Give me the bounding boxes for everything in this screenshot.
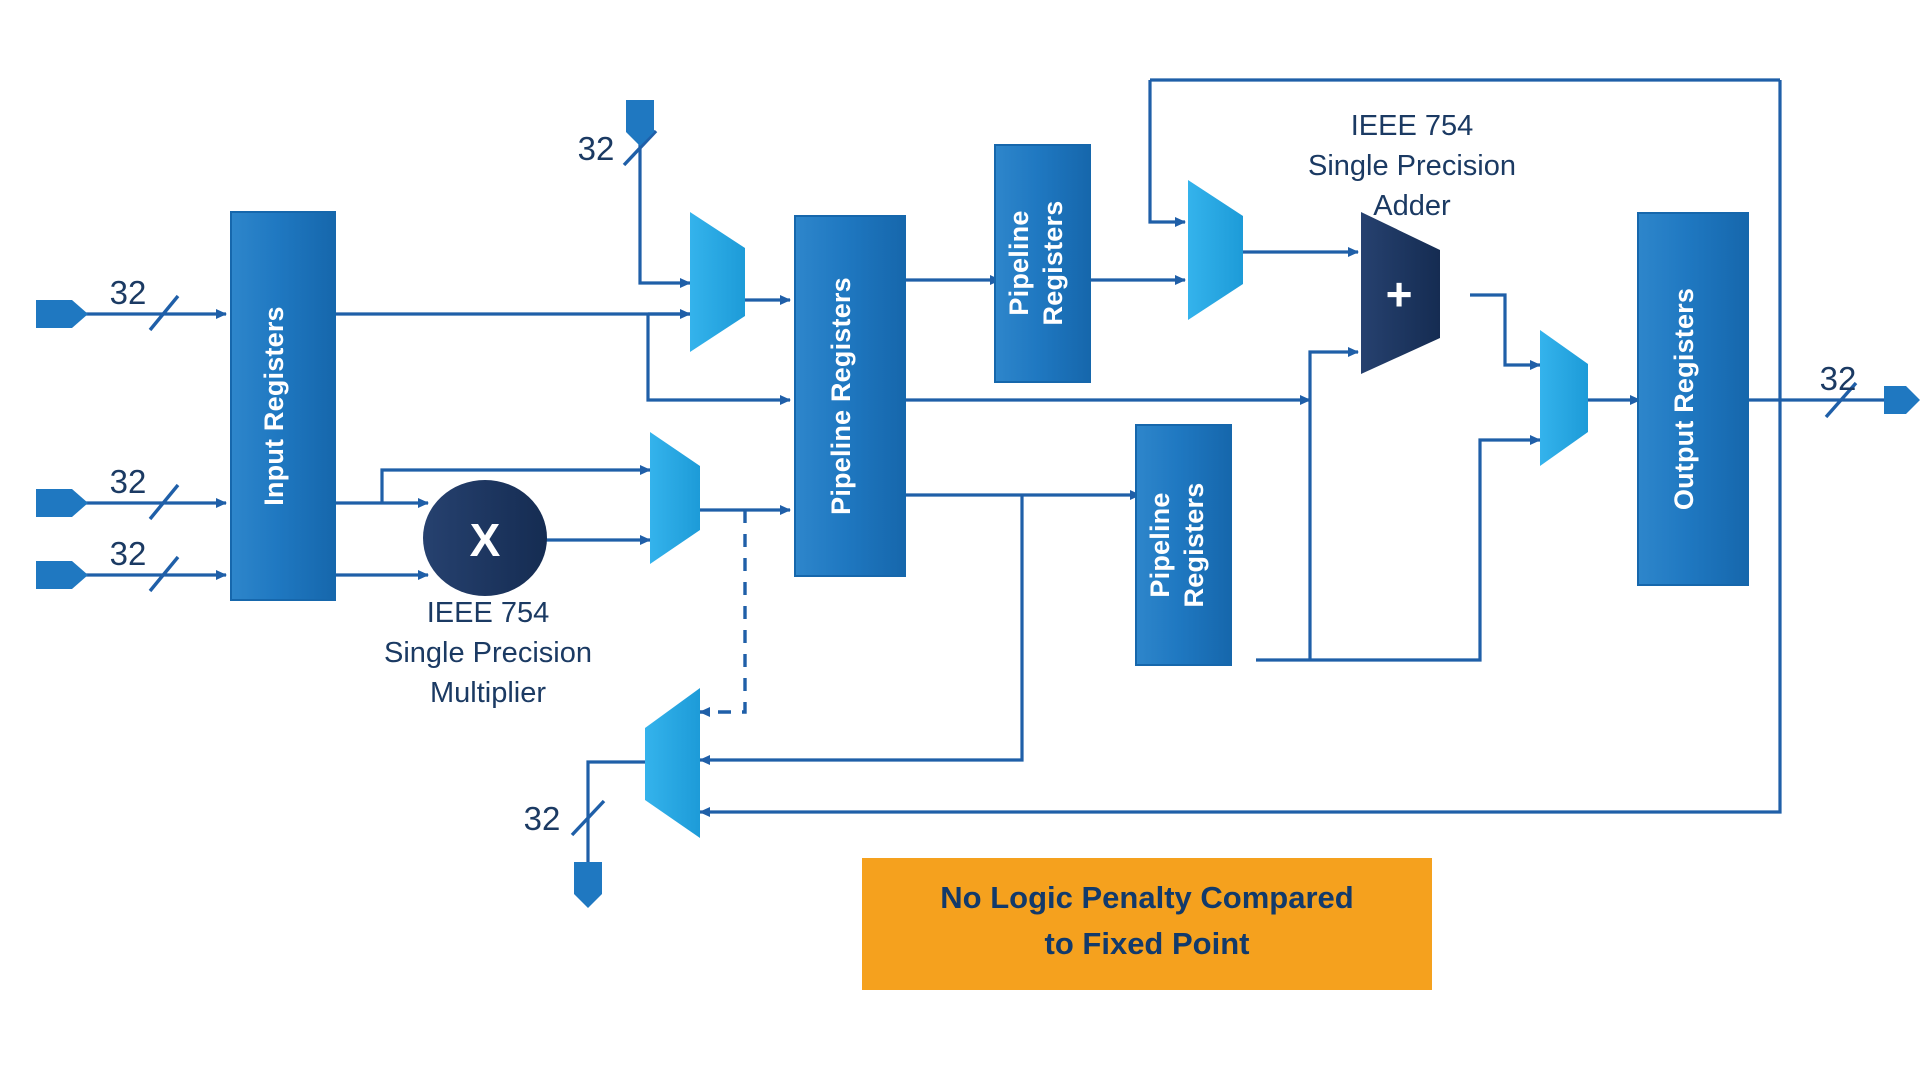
block-pipeline-registers-top-label-2: Registers xyxy=(1038,201,1068,326)
operator-multiplier[interactable]: X xyxy=(423,480,547,596)
adder-glyph: + xyxy=(1386,268,1413,320)
bus-label-input-a: 32 xyxy=(110,274,147,311)
callout-line2: to Fixed Point xyxy=(1045,926,1250,961)
bus-label-mux-top-select: 32 xyxy=(578,130,615,167)
multiplier-glyph: X xyxy=(470,514,501,566)
block-pipeline-registers-top[interactable]: Pipeline Registers xyxy=(995,145,1090,382)
diagram-canvas: Input Registers Pipeline Registers Pipel… xyxy=(0,0,1920,1080)
block-pipeline-registers-top-label-1: Pipeline xyxy=(1004,210,1034,315)
caption-multiplier-line3: Multiplier xyxy=(430,677,546,709)
bus-label-input-b: 32 xyxy=(110,463,147,500)
caption-adder-line3: Adder xyxy=(1373,190,1451,222)
dsp-block-diagram: Input Registers Pipeline Registers Pipel… xyxy=(0,0,1920,1080)
caption-multiplier-line2: Single Precision xyxy=(384,637,592,669)
block-output-registers-label: Output Registers xyxy=(1669,288,1699,510)
caption-multiplier-line1: IEEE 754 xyxy=(427,597,550,629)
bus-label-output: 32 xyxy=(1820,360,1857,397)
block-input-registers-label: Input Registers xyxy=(259,306,289,506)
caption-adder-line2: Single Precision xyxy=(1308,150,1516,182)
callout-no-logic-penalty[interactable]: No Logic Penalty Compared to Fixed Point xyxy=(862,858,1432,990)
bus-label-input-c: 32 xyxy=(110,535,147,572)
block-pipeline-registers-main[interactable]: Pipeline Registers xyxy=(795,216,905,576)
caption-adder-line1: IEEE 754 xyxy=(1351,110,1474,142)
callout-line1: No Logic Penalty Compared xyxy=(940,880,1353,915)
block-pipeline-registers-mid-label-2: Registers xyxy=(1179,483,1209,608)
block-pipeline-registers-mid[interactable]: Pipeline Registers xyxy=(1136,425,1231,665)
block-input-registers[interactable]: Input Registers xyxy=(231,212,335,600)
block-pipeline-registers-main-label: Pipeline Registers xyxy=(826,277,856,515)
block-output-registers[interactable]: Output Registers xyxy=(1638,213,1748,585)
block-pipeline-registers-mid-label-1: Pipeline xyxy=(1145,492,1175,597)
bus-label-mux-bottom-select: 32 xyxy=(524,800,561,837)
